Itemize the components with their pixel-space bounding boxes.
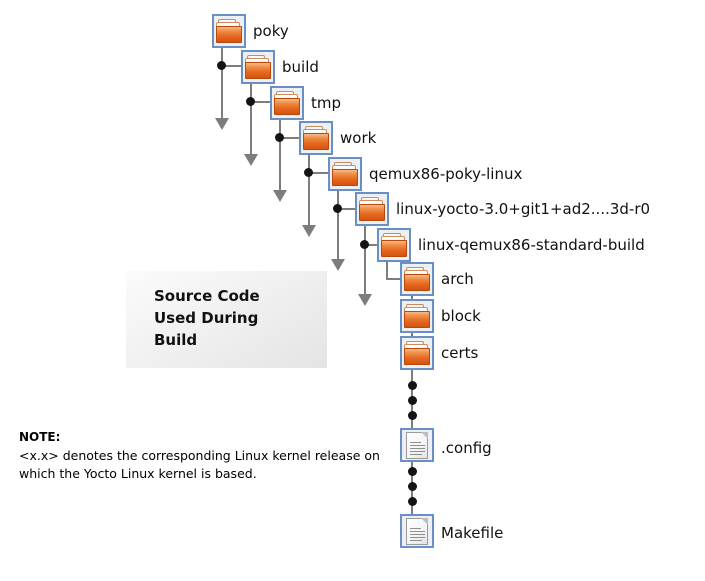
folder-icon (332, 162, 358, 186)
node-label-makefile: Makefile (441, 526, 503, 541)
node-label-linux-yocto: linux-yocto-3.0+git1+ad2....3d-r0 (396, 202, 650, 217)
node-work[interactable] (299, 121, 333, 155)
folder-icon (303, 126, 329, 150)
note-title: NOTE: (19, 430, 389, 444)
connector-arrow-qemux86 (331, 259, 345, 271)
node-linux-qemux86-standard-build[interactable] (377, 228, 411, 262)
ellipsis-dot (408, 411, 417, 420)
ellipsis-dot (408, 396, 417, 405)
folder-icon (245, 55, 271, 79)
folder-icon (359, 197, 385, 221)
node-label-tmp: tmp (311, 96, 341, 111)
folder-icon (404, 267, 430, 291)
node-arch[interactable] (400, 262, 434, 296)
folder-icon (216, 19, 242, 43)
node-build[interactable] (241, 50, 275, 84)
connector-line-yocto (364, 226, 366, 296)
file-icon (406, 518, 428, 545)
connector-dot-poky (217, 61, 226, 70)
connector-line-poky (221, 48, 223, 120)
callout-line-3: Build (154, 330, 260, 352)
node-label-build: build (282, 60, 319, 75)
node-qemux86-poky-linux[interactable] (328, 157, 362, 191)
node-label-config-file: .config (441, 441, 492, 456)
note-body: <x.x> denotes the corresponding Linux ke… (19, 447, 389, 483)
node-label-linux-qemux86-standard-build: linux-qemux86-standard-build (418, 238, 645, 253)
node-label-block: block (441, 309, 481, 324)
callout-line-1: Source Code (154, 286, 260, 308)
connector-dot-tmp (275, 133, 284, 142)
connector-arrow-build (244, 154, 258, 166)
connector-dot-qemux86 (333, 204, 342, 213)
diagram-canvas: poky build tmp work qemux86-poky-linux l… (0, 0, 705, 581)
ellipsis-dot (408, 467, 417, 476)
connector-line-qemux86 (337, 191, 339, 261)
callout-line-2: Used During (154, 308, 260, 330)
connector-dot-build (246, 97, 255, 106)
connector-arrow-tmp (273, 190, 287, 202)
node-config-file[interactable] (400, 428, 434, 462)
note-block: NOTE: <x.x> denotes the corresponding Li… (19, 430, 389, 483)
ellipsis-dot (408, 497, 417, 506)
node-label-poky: poky (253, 24, 289, 39)
node-label-certs: certs (441, 346, 478, 361)
node-linux-yocto[interactable] (355, 192, 389, 226)
file-icon (406, 432, 428, 459)
connector-line-work (308, 155, 310, 227)
connector-arrow-yocto (358, 294, 372, 306)
connector-arrow-work (302, 225, 316, 237)
node-makefile[interactable] (400, 514, 434, 548)
node-certs[interactable] (400, 336, 434, 370)
node-tmp[interactable] (270, 86, 304, 120)
callout-text: Source Code Used During Build (154, 286, 260, 351)
node-label-work: work (340, 131, 376, 146)
node-label-qemux86-poky-linux: qemux86-poky-linux (369, 167, 522, 182)
folder-icon (404, 304, 430, 328)
node-poky[interactable] (212, 14, 246, 48)
callout-box-source-code: Source Code Used During Build (126, 271, 327, 368)
connector-line-tmp (279, 120, 281, 192)
connector-arrow-poky (215, 118, 229, 130)
node-block[interactable] (400, 299, 434, 333)
ellipsis-dot (408, 482, 417, 491)
folder-icon (381, 233, 407, 257)
folder-icon (274, 91, 300, 115)
ellipsis-dot (408, 381, 417, 390)
connector-dot-work (304, 168, 313, 177)
connector-line-build (250, 84, 252, 156)
folder-icon (404, 341, 430, 365)
connector-dot-yocto (360, 240, 369, 249)
node-label-arch: arch (441, 272, 474, 287)
